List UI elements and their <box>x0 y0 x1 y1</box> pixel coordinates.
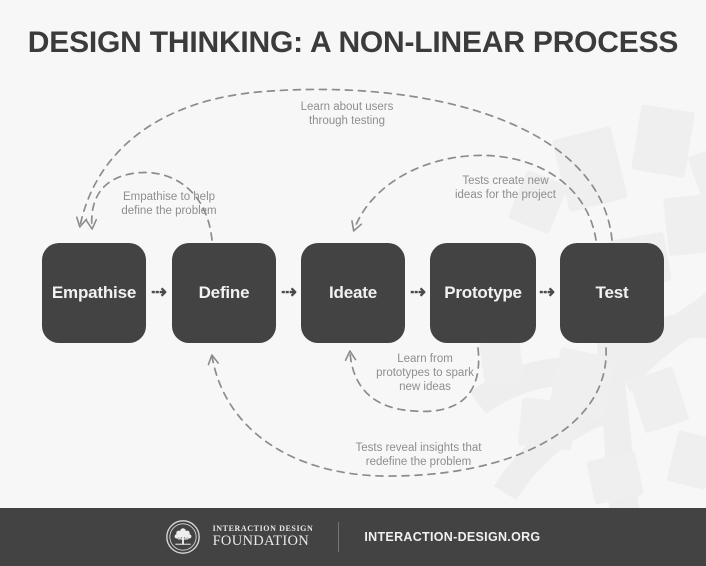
stage-box-define[interactable]: Define <box>172 243 276 343</box>
brand-wordmark: INTERACTION DESIGN FOUNDATION <box>213 525 314 549</box>
stage-box-prototype[interactable]: Prototype <box>430 243 536 343</box>
footer-bar: INTERACTION DESIGN FOUNDATION INTERACTIO… <box>0 508 706 566</box>
footer-url-label[interactable]: INTERACTION-DESIGN.ORG <box>364 530 540 544</box>
stage-box-empathise[interactable]: Empathise <box>42 243 146 343</box>
infographic-canvas: DESIGN THINKING: A NON-LINEAR PROCESS Le… <box>0 0 706 566</box>
tree-seal-logo-icon <box>166 520 200 554</box>
connector-arrow-icon-4: ⇢ <box>534 280 560 306</box>
connector-arrow-icon-3: ⇢ <box>405 280 431 306</box>
connector-arrow-icon-1: ⇢ <box>146 280 172 306</box>
footer-divider <box>338 522 339 552</box>
annotation-learn-about-users: Learn about users through testing <box>277 100 417 128</box>
annotation-empathise-to-help-define: Empathise to help define the problem <box>104 190 234 218</box>
stage-label-ideate: Ideate <box>329 283 377 303</box>
annotation-tests-create-new-ideas: Tests create new ideas for the project <box>433 174 578 202</box>
connector-arrow-icon-2: ⇢ <box>276 280 302 306</box>
annotation-tests-reveal-insights: Tests reveal insights that redefine the … <box>326 441 511 469</box>
brand-line-2: FOUNDATION <box>213 534 314 549</box>
stage-label-prototype: Prototype <box>444 283 522 303</box>
brand-line-1: INTERACTION DESIGN <box>213 525 314 533</box>
annotation-learn-from-prototypes: Learn from prototypes to spark new ideas <box>355 352 495 394</box>
stage-box-ideate[interactable]: Ideate <box>301 243 405 343</box>
footer-content: INTERACTION DESIGN FOUNDATION INTERACTIO… <box>166 520 541 554</box>
stage-label-define: Define <box>199 283 250 303</box>
stage-box-test[interactable]: Test <box>560 243 664 343</box>
stage-label-test: Test <box>596 283 629 303</box>
stage-label-empathise: Empathise <box>52 283 136 303</box>
